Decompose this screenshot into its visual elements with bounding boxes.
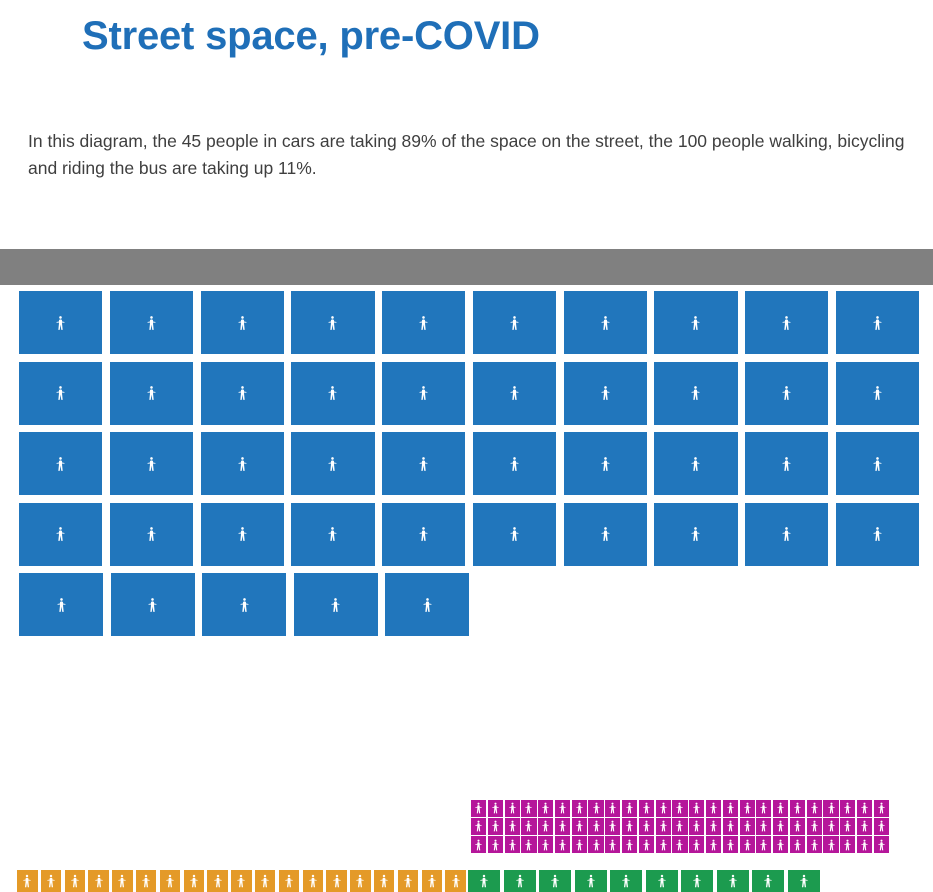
- person-icon: [760, 821, 767, 832]
- bus-cell: [807, 836, 822, 853]
- car-cell: [291, 291, 374, 354]
- person-icon: [504, 875, 536, 888]
- person-icon: [255, 875, 276, 888]
- car-cell: [836, 503, 919, 566]
- person-icon: [576, 821, 583, 832]
- bus-cell: [689, 836, 704, 853]
- bus-cell: [790, 818, 805, 835]
- person-icon: [473, 386, 556, 400]
- person-icon: [419, 316, 428, 330]
- person-icon: [706, 821, 721, 832]
- street-space-pictogram: [0, 249, 933, 650]
- person-icon: [656, 839, 671, 850]
- person-icon: [475, 821, 482, 832]
- bike-cell: [752, 870, 784, 892]
- bus-cell: [740, 818, 755, 835]
- person-icon: [65, 875, 86, 888]
- car-cell: [294, 573, 378, 636]
- bus-cell: [773, 800, 788, 817]
- person-icon: [57, 598, 66, 612]
- bus-cell: [874, 818, 889, 835]
- person-icon: [521, 821, 536, 832]
- person-icon: [419, 386, 428, 400]
- person-icon: [729, 875, 737, 888]
- person-icon: [471, 803, 486, 814]
- person-icon: [609, 803, 616, 814]
- person-icon: [800, 875, 808, 888]
- person-icon: [56, 316, 65, 330]
- person-icon: [656, 821, 671, 832]
- person-icon: [492, 803, 499, 814]
- person-icon: [654, 457, 737, 471]
- person-icon: [148, 598, 157, 612]
- person-icon: [601, 457, 610, 471]
- person-icon: [874, 803, 889, 814]
- person-icon: [756, 803, 771, 814]
- person-icon: [488, 821, 503, 832]
- bus-cell: [740, 836, 755, 853]
- person-icon: [727, 803, 734, 814]
- person-icon: [505, 839, 520, 850]
- person-icon: [505, 803, 520, 814]
- person-icon: [404, 875, 412, 888]
- person-icon: [23, 875, 31, 888]
- person-icon: [740, 821, 755, 832]
- bus-cell: [840, 818, 855, 835]
- person-icon: [660, 803, 667, 814]
- person-icon: [710, 803, 717, 814]
- bus-cell: [823, 800, 838, 817]
- person-icon: [626, 803, 633, 814]
- bus-cell: [874, 800, 889, 817]
- bike-cell: [717, 870, 749, 892]
- walk-cell: [326, 870, 347, 892]
- person-icon: [643, 803, 650, 814]
- car-cell: [564, 432, 647, 495]
- person-icon: [166, 875, 174, 888]
- bus-cell: [588, 818, 603, 835]
- car-cell: [382, 362, 465, 425]
- car-cell: [201, 291, 284, 354]
- person-icon: [184, 875, 205, 888]
- person-icon: [643, 821, 650, 832]
- car-cell: [382, 291, 465, 354]
- person-icon: [744, 803, 751, 814]
- walk-cell: [279, 870, 300, 892]
- person-icon: [291, 527, 374, 541]
- person-icon: [752, 875, 784, 888]
- person-icon: [807, 821, 822, 832]
- bus-cell: [521, 800, 536, 817]
- person-icon: [374, 875, 395, 888]
- car-cell: [654, 362, 737, 425]
- person-icon: [588, 821, 603, 832]
- person-icon: [836, 457, 919, 471]
- person-icon: [333, 875, 341, 888]
- person-icon: [689, 821, 704, 832]
- bus-cell: [874, 836, 889, 853]
- person-icon: [480, 875, 488, 888]
- person-icon: [382, 386, 465, 400]
- person-icon: [488, 839, 503, 850]
- person-icon: [777, 821, 784, 832]
- bus-cell: [706, 800, 721, 817]
- person-icon: [878, 803, 885, 814]
- car-cell: [19, 503, 102, 566]
- bus-row: [471, 836, 917, 853]
- description-text: In this diagram, the 45 people in cars a…: [28, 128, 908, 182]
- person-icon: [828, 803, 835, 814]
- person-icon: [823, 821, 838, 832]
- person-icon: [874, 821, 889, 832]
- person-icon: [601, 316, 610, 330]
- person-icon: [691, 457, 700, 471]
- person-icon: [794, 839, 801, 850]
- person-icon: [878, 839, 885, 850]
- bus-cell: [689, 818, 704, 835]
- person-icon: [207, 875, 228, 888]
- person-icon: [643, 839, 650, 850]
- person-icon: [844, 821, 851, 832]
- person-icon: [510, 457, 519, 471]
- person-icon: [575, 875, 607, 888]
- person-icon: [382, 457, 465, 471]
- person-icon: [626, 839, 633, 850]
- person-icon: [756, 839, 771, 850]
- person-icon: [672, 839, 687, 850]
- bus-cell: [823, 818, 838, 835]
- person-icon: [41, 875, 62, 888]
- person-icon: [147, 316, 156, 330]
- person-icon: [564, 457, 647, 471]
- person-icon: [452, 875, 460, 888]
- person-icon: [693, 875, 701, 888]
- bus-cell: [538, 818, 553, 835]
- person-icon: [118, 875, 126, 888]
- person-icon: [328, 316, 337, 330]
- person-icon: [873, 527, 882, 541]
- bus-row: [471, 818, 917, 835]
- person-icon: [745, 527, 828, 541]
- person-icon: [658, 875, 666, 888]
- person-icon: [828, 821, 835, 832]
- person-icon: [142, 875, 150, 888]
- person-icon: [572, 821, 587, 832]
- person-icon: [691, 527, 700, 541]
- person-icon: [201, 457, 284, 471]
- person-icon: [291, 457, 374, 471]
- person-icon: [542, 803, 549, 814]
- person-icon: [764, 875, 772, 888]
- person-icon: [110, 457, 193, 471]
- person-icon: [588, 803, 603, 814]
- person-icon: [201, 527, 284, 541]
- car-cell: [564, 503, 647, 566]
- car-cell: [473, 291, 556, 354]
- person-icon: [844, 839, 851, 850]
- bus-cell: [488, 818, 503, 835]
- person-icon: [727, 839, 734, 850]
- person-icon: [740, 803, 755, 814]
- bus-cell: [672, 800, 687, 817]
- person-icon: [510, 386, 519, 400]
- person-icon: [350, 875, 371, 888]
- person-icon: [788, 875, 820, 888]
- person-icon: [593, 803, 600, 814]
- bus-cell: [471, 800, 486, 817]
- person-icon: [542, 839, 549, 850]
- person-icon: [492, 839, 499, 850]
- person-icon: [605, 839, 620, 850]
- person-icon: [588, 839, 603, 850]
- person-icon: [525, 821, 532, 832]
- person-icon: [676, 821, 683, 832]
- person-icon: [564, 316, 647, 330]
- person-icon: [878, 821, 885, 832]
- car-cell: [291, 432, 374, 495]
- person-icon: [551, 875, 559, 888]
- person-icon: [656, 803, 671, 814]
- person-icon: [231, 875, 252, 888]
- bus-cell: [706, 836, 721, 853]
- person-icon: [521, 803, 536, 814]
- person-icon: [745, 386, 828, 400]
- bus-cell: [605, 818, 620, 835]
- person-icon: [857, 803, 872, 814]
- person-icon: [689, 803, 704, 814]
- person-icon: [509, 821, 516, 832]
- car-cell: [19, 573, 103, 636]
- car-cell: [110, 362, 193, 425]
- person-icon: [525, 839, 532, 850]
- person-icon: [398, 875, 419, 888]
- person-icon: [516, 875, 524, 888]
- person-icon: [279, 875, 300, 888]
- person-icon: [807, 839, 822, 850]
- person-icon: [71, 875, 79, 888]
- person-icon: [382, 527, 465, 541]
- person-icon: [836, 386, 919, 400]
- person-icon: [693, 821, 700, 832]
- person-icon: [110, 386, 193, 400]
- person-icon: [538, 839, 553, 850]
- person-icon: [240, 598, 249, 612]
- person-icon: [622, 875, 630, 888]
- walk-cell: [65, 870, 86, 892]
- walk-cell: [398, 870, 419, 892]
- person-icon: [773, 803, 788, 814]
- person-icon: [811, 839, 818, 850]
- person-icon: [328, 386, 337, 400]
- person-icon: [473, 316, 556, 330]
- bus-cell: [706, 818, 721, 835]
- bus-cell: [773, 836, 788, 853]
- bike-cell: [504, 870, 536, 892]
- car-cell: [291, 362, 374, 425]
- person-icon: [593, 839, 600, 850]
- person-icon: [782, 386, 791, 400]
- person-icon: [693, 803, 700, 814]
- street-bar: [0, 249, 933, 285]
- car-cell: [201, 432, 284, 495]
- person-icon: [639, 839, 654, 850]
- person-icon: [717, 875, 749, 888]
- person-icon: [706, 803, 721, 814]
- person-icon: [356, 875, 364, 888]
- person-icon: [773, 821, 788, 832]
- bus-cell: [639, 836, 654, 853]
- person-icon: [836, 316, 919, 330]
- car-cell: [745, 291, 828, 354]
- car-cell: [110, 291, 193, 354]
- person-icon: [419, 527, 428, 541]
- person-icon: [873, 316, 882, 330]
- person-icon: [380, 875, 388, 888]
- bus-cell: [538, 836, 553, 853]
- person-icon: [790, 839, 805, 850]
- person-icon: [110, 527, 193, 541]
- bus-cell: [572, 818, 587, 835]
- person-icon: [676, 803, 683, 814]
- person-icon: [190, 875, 198, 888]
- car-cell: [382, 432, 465, 495]
- person-icon: [794, 803, 801, 814]
- bus-cell: [572, 836, 587, 853]
- person-icon: [727, 821, 734, 832]
- person-icon: [291, 316, 374, 330]
- walk-cell: [445, 870, 466, 892]
- person-icon: [285, 875, 293, 888]
- walk-cell: [255, 870, 276, 892]
- person-icon: [521, 839, 536, 850]
- person-icon: [214, 875, 222, 888]
- person-icon: [56, 386, 65, 400]
- walk-cell: [184, 870, 205, 892]
- page-title: Street space, pre-COVID: [82, 14, 540, 59]
- person-icon: [559, 821, 566, 832]
- person-icon: [538, 803, 553, 814]
- person-icon: [475, 839, 482, 850]
- person-icon: [238, 527, 247, 541]
- car-cell: [564, 362, 647, 425]
- car-cell: [19, 432, 102, 495]
- car-row: [19, 432, 919, 495]
- person-icon: [782, 457, 791, 471]
- person-icon: [147, 527, 156, 541]
- person-icon: [468, 875, 500, 888]
- bike-cell: [646, 870, 678, 892]
- person-icon: [811, 821, 818, 832]
- car-cell: [654, 291, 737, 354]
- person-icon: [622, 803, 637, 814]
- bus-cell: [723, 836, 738, 853]
- person-icon: [422, 875, 443, 888]
- person-icon: [475, 803, 482, 814]
- person-icon: [693, 839, 700, 850]
- bus-cell: [773, 818, 788, 835]
- person-icon: [760, 839, 767, 850]
- person-icon: [538, 821, 553, 832]
- walk-cell: [303, 870, 324, 892]
- bus-cell: [857, 836, 872, 853]
- bus-cell: [740, 800, 755, 817]
- person-icon: [136, 875, 157, 888]
- car-cell: [564, 291, 647, 354]
- person-icon: [605, 821, 620, 832]
- person-icon: [672, 821, 687, 832]
- car-cell: [19, 362, 102, 425]
- person-icon: [723, 803, 738, 814]
- person-icon: [542, 821, 549, 832]
- person-icon: [201, 386, 284, 400]
- person-icon: [47, 875, 55, 888]
- person-icon: [626, 821, 633, 832]
- person-icon: [794, 821, 801, 832]
- person-icon: [744, 821, 751, 832]
- person-icon: [488, 803, 503, 814]
- bus-cell: [588, 836, 603, 853]
- person-icon: [147, 457, 156, 471]
- person-icon: [471, 821, 486, 832]
- bus-cell: [488, 800, 503, 817]
- person-icon: [873, 457, 882, 471]
- person-icon: [492, 821, 499, 832]
- bus-cell: [807, 818, 822, 835]
- person-icon: [740, 839, 755, 850]
- person-icon: [605, 803, 620, 814]
- car-cell: [110, 432, 193, 495]
- person-icon: [559, 839, 566, 850]
- bus-cell: [840, 836, 855, 853]
- person-icon: [672, 803, 687, 814]
- bus-cell: [823, 836, 838, 853]
- person-icon: [587, 875, 595, 888]
- person-icon: [261, 875, 269, 888]
- walk-cell: [374, 870, 395, 892]
- person-icon: [874, 839, 889, 850]
- car-cell: [382, 503, 465, 566]
- person-icon: [857, 839, 872, 850]
- person-icon: [710, 839, 717, 850]
- person-icon: [706, 839, 721, 850]
- person-icon: [110, 316, 193, 330]
- person-icon: [572, 803, 587, 814]
- person-icon: [861, 839, 868, 850]
- person-icon: [576, 839, 583, 850]
- car-cell: [745, 432, 828, 495]
- bus-cell: [656, 836, 671, 853]
- person-icon: [238, 386, 247, 400]
- bus-cell: [622, 836, 637, 853]
- person-icon: [525, 803, 532, 814]
- person-icon: [202, 598, 286, 612]
- person-icon: [782, 316, 791, 330]
- bike-cell: [539, 870, 571, 892]
- person-icon: [555, 803, 570, 814]
- person-icon: [19, 527, 102, 541]
- bus-cell: [857, 800, 872, 817]
- person-icon: [745, 457, 828, 471]
- person-icon: [201, 316, 284, 330]
- person-icon: [572, 839, 587, 850]
- car-row: [19, 362, 919, 425]
- person-icon: [510, 527, 519, 541]
- car-cell: [202, 573, 286, 636]
- person-icon: [723, 839, 738, 850]
- person-icon: [857, 821, 872, 832]
- person-icon: [19, 598, 103, 612]
- person-icon: [238, 457, 247, 471]
